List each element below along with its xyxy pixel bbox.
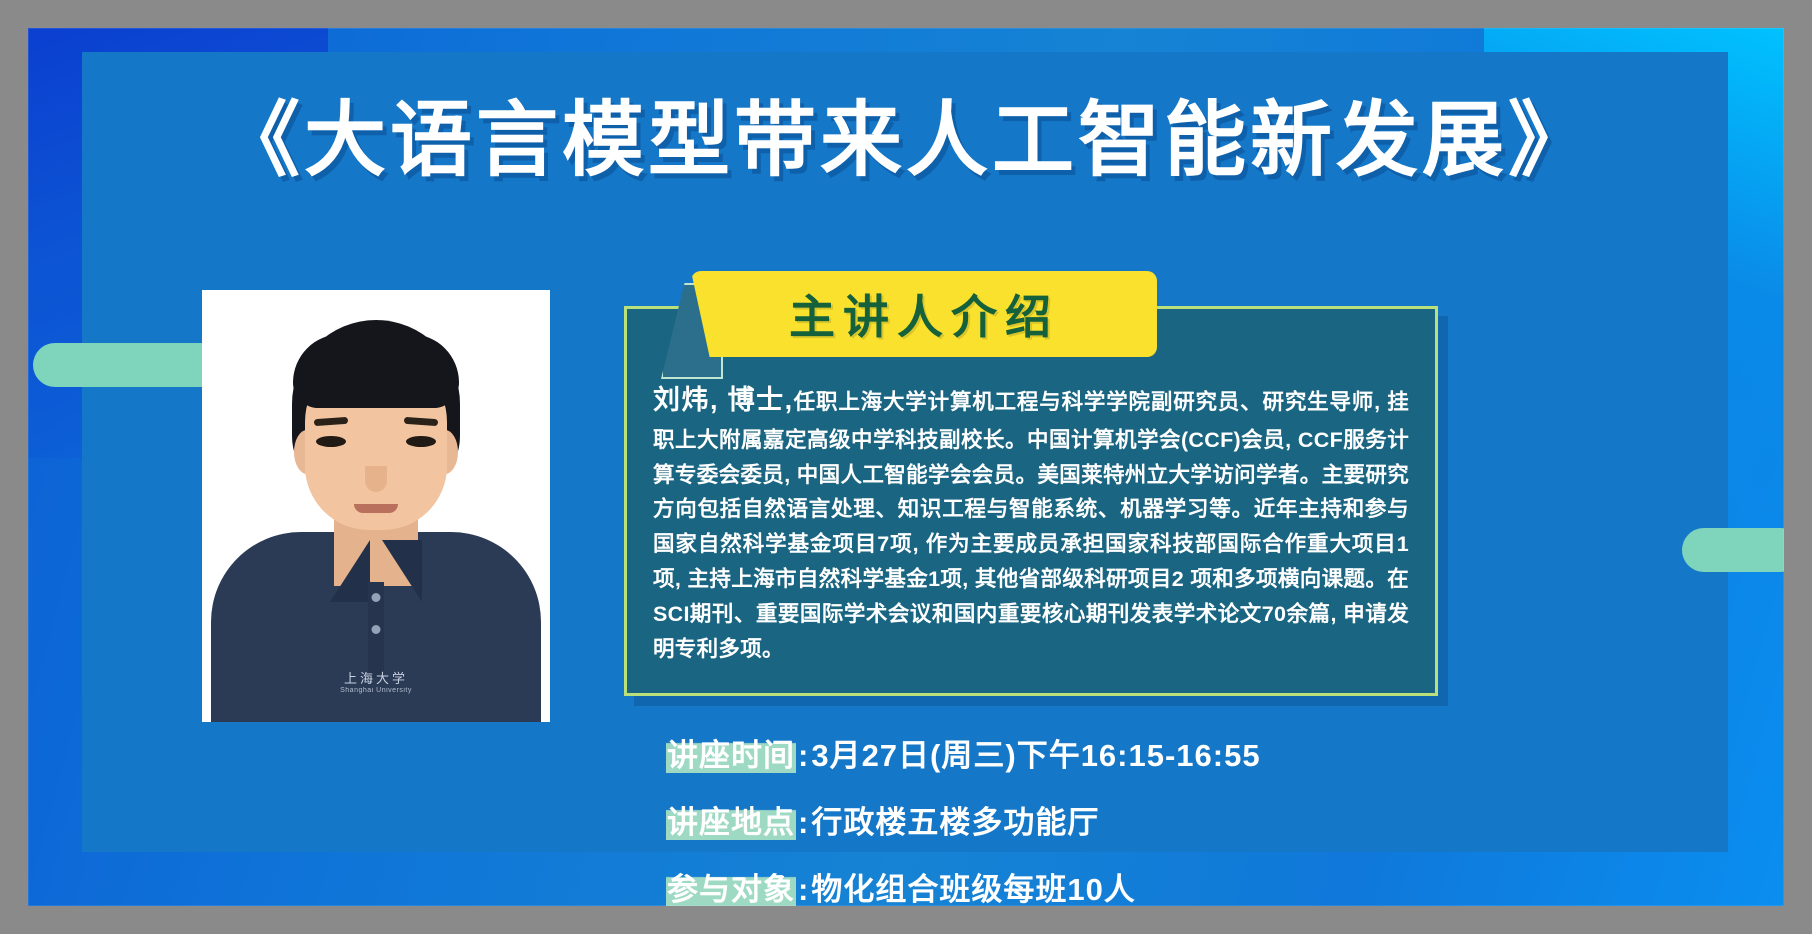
- decor-pill-right: [1682, 528, 1784, 572]
- info-row-time: 讲座时间 : 3月27日(周三)下午16:15-16:55: [666, 730, 1438, 775]
- info-value-time: 3月27日(周三)下午16:15-16:55: [811, 730, 1260, 775]
- page-title: 《大语言模型带来人工智能新发展》: [28, 100, 1784, 182]
- portrait-collar-right: [382, 540, 422, 602]
- portrait-university-badge: 上海大学 Shanghai University: [316, 671, 436, 696]
- section-header-ribbon: 主讲人介绍: [661, 271, 1157, 357]
- info-row-audience: 参与对象 : 物化组合班级每班10人: [666, 864, 1438, 906]
- portrait-nose: [365, 466, 387, 492]
- speaker-portrait-photo: 上海大学 Shanghai University: [202, 290, 550, 722]
- info-separator-audience: :: [796, 872, 811, 906]
- speaker-content-column: 主讲人介绍 刘炜, 博士,任职上海大学计算机工程与科学学院副研究员、研究生导师,…: [624, 280, 1438, 906]
- portrait-mouth: [354, 504, 398, 513]
- info-label-location: 讲座地点: [666, 797, 796, 842]
- portrait-eye-left: [316, 436, 346, 447]
- portrait-button-top: [372, 593, 381, 602]
- speaker-bio-body: 任职上海大学计算机工程与科学学院副研究员、研究生导师, 挂职上大附属嘉定高级中学…: [653, 390, 1409, 661]
- info-value-location: 行政楼五楼多功能厅: [811, 797, 1099, 842]
- info-label-audience: 参与对象: [666, 864, 796, 906]
- info-separator-location: :: [796, 805, 811, 841]
- info-label-time: 讲座时间: [666, 730, 796, 775]
- speaker-intro-box: 主讲人介绍 刘炜, 博士,任职上海大学计算机工程与科学学院副研究员、研究生导师,…: [624, 306, 1438, 696]
- portrait-button-bottom: [372, 625, 381, 634]
- info-row-location: 讲座地点 : 行政楼五楼多功能厅: [666, 797, 1438, 842]
- speaker-bio-paragraph: 刘炜, 博士,任职上海大学计算机工程与科学学院副研究员、研究生导师, 挂职上大附…: [653, 379, 1409, 667]
- section-header-label: 主讲人介绍: [691, 271, 1157, 357]
- poster-canvas: 《大语言模型带来人工智能新发展》 上海大学 Shanghai Universit…: [28, 28, 1784, 906]
- portrait-eye-right: [406, 436, 436, 447]
- portrait-collar-left: [330, 540, 370, 602]
- speaker-name: 刘炜, 博士,: [653, 385, 793, 415]
- badge-label-cn: 上海大学: [316, 671, 436, 687]
- info-value-audience: 物化组合班级每班10人: [811, 864, 1135, 906]
- info-separator-time: :: [796, 738, 811, 774]
- badge-label-en: Shanghai University: [316, 687, 436, 696]
- portrait-fringe: [293, 334, 459, 408]
- event-info-list: 讲座时间 : 3月27日(周三)下午16:15-16:55 讲座地点 : 行政楼…: [666, 730, 1438, 906]
